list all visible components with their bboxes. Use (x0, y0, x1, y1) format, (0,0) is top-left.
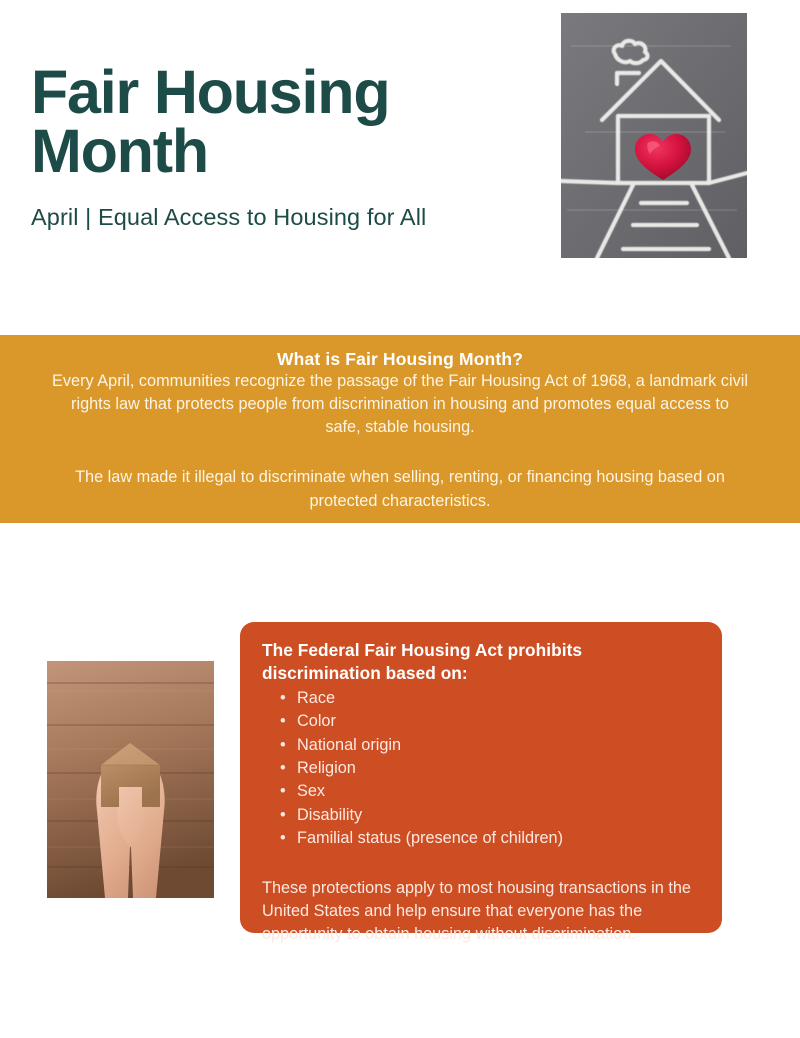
list-item-label: Religion (297, 759, 356, 777)
banner-paragraph-1: Every April, communities recognize the p… (52, 370, 748, 439)
list-item: •Religion (297, 757, 700, 780)
bullet-icon: • (280, 710, 286, 733)
list-item: •Sex (297, 780, 700, 803)
protected-classes-list: •Race •Color •National origin •Religion … (251, 687, 700, 851)
banner-title: What is Fair Housing Month? (52, 349, 748, 370)
bullet-icon: • (280, 827, 286, 850)
fair-housing-act-prohibitions-card: The Federal Fair Housing Act prohibits d… (240, 622, 722, 933)
bullet-icon: • (280, 780, 286, 803)
list-item-label: Disability (297, 806, 362, 824)
card-title: The Federal Fair Housing Act prohibits d… (251, 639, 700, 685)
chalkboard-house-with-heart-photo (561, 13, 747, 258)
list-item: •Familial status (presence of children) (297, 827, 700, 850)
hands-illustration (47, 661, 214, 898)
list-item-label: Color (297, 712, 336, 730)
list-item-label: Race (297, 689, 335, 707)
chalkboard-illustration (561, 13, 747, 258)
card-note: These protections apply to most housing … (251, 877, 700, 946)
bullet-icon: • (280, 757, 286, 780)
bullet-icon: • (280, 734, 286, 757)
what-is-fair-housing-month-banner: What is Fair Housing Month? Every April,… (0, 335, 800, 523)
list-item: •Color (297, 710, 700, 733)
list-item: •National origin (297, 734, 700, 757)
title-block: Fair Housing Month April | Equal Access … (31, 63, 531, 231)
bullet-icon: • (280, 687, 286, 710)
list-item: •Race (297, 687, 700, 710)
hands-holding-wooden-house-photo (47, 661, 214, 898)
list-item: •Disability (297, 804, 700, 827)
page-subtitle: April | Equal Access to Housing for All (31, 181, 531, 231)
banner-paragraph-2: The law made it illegal to discriminate … (52, 466, 748, 512)
list-item-label: National origin (297, 736, 401, 754)
bullet-icon: • (280, 804, 286, 827)
page-title: Fair Housing Month (31, 63, 531, 181)
list-item-label: Sex (297, 782, 325, 800)
list-item-label: Familial status (presence of children) (297, 829, 563, 847)
poster-header: Fair Housing Month April | Equal Access … (0, 0, 800, 300)
